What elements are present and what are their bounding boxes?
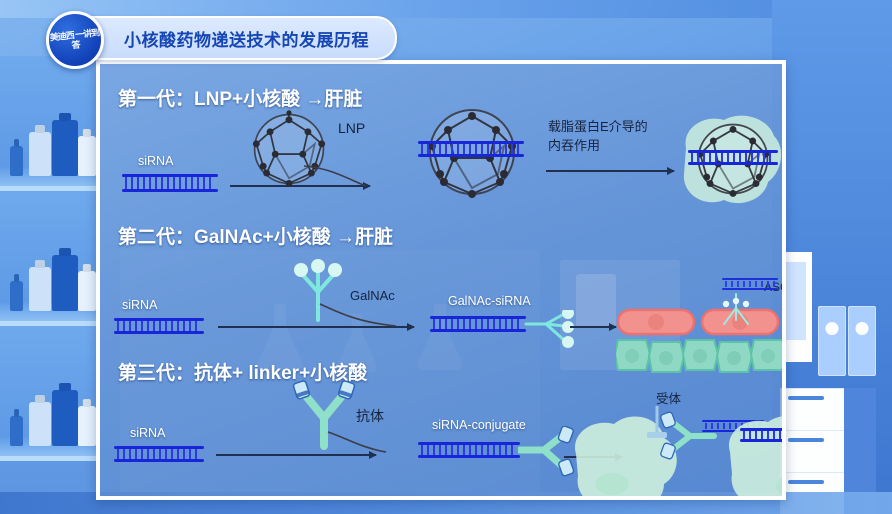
gen3-conjugate-label: siRNA-conjugate: [432, 418, 526, 432]
gen2-conjugate-sirna: [430, 316, 526, 332]
slide-canvas: 美迪西 一讲到答 小核酸药物递送技术的发展历程 第一代：LNP+小核酸 →肝脏 …: [0, 0, 892, 514]
page-title: 小核酸药物递送技术的发展历程: [124, 26, 369, 51]
gen3-antibody-connector: [324, 430, 390, 458]
gen1-lnp-connector: [300, 164, 370, 194]
bottle-small: [10, 416, 23, 446]
bottle-large: [52, 120, 78, 176]
bottle-tall: [78, 136, 96, 176]
gen2-galnac-label: GalNAc: [350, 288, 395, 303]
bottle-medium: [29, 132, 51, 176]
bottle-small: [10, 281, 23, 311]
bottle-small: [10, 146, 23, 176]
gen2-conjugate-galnac: [524, 310, 578, 352]
drawer-handle: [788, 480, 824, 484]
generation-row-3: 第三代：抗体+ linker+小核酸 siRNA: [100, 352, 782, 496]
content-board: 第一代：LNP+小核酸 →肝脏 siRNA: [96, 60, 786, 500]
gen3-sirna-label: siRNA: [130, 426, 165, 440]
gen1-arrow-2: [546, 170, 674, 172]
gen2-bound-sirna: [722, 278, 778, 290]
binder-folder: [818, 306, 846, 376]
slide-title-pill: 小核酸药物递送技术的发展历程: [72, 16, 397, 60]
left-shelf-unit: [0, 56, 100, 496]
company-logo-icon: 美迪西 一讲到答: [46, 11, 104, 69]
gen2-arrow-2: [570, 326, 616, 328]
drawer-handle: [788, 438, 824, 442]
gen2-asgpr-receptor-icon: [714, 290, 766, 332]
gen1-process-line2: 内吞作用: [548, 135, 600, 154]
bottle-large: [52, 390, 78, 446]
gen1-sirna-label: siRNA: [138, 154, 173, 168]
gen2-title: 第二代：GalNAc+小核酸 →肝脏: [118, 222, 393, 249]
gen3-internalised-sirna: [740, 428, 786, 442]
bottle-medium: [29, 402, 51, 446]
gen2-galnac-connector: [316, 302, 400, 332]
drawer-unit: [780, 388, 846, 432]
gen3-antibody-label: 抗体: [356, 406, 384, 426]
gen3-bound-antibody: [660, 410, 718, 462]
shelf-row-3: [0, 326, 100, 461]
drawer-handle: [788, 396, 824, 400]
binder-folder: [848, 306, 876, 376]
gen1-sirna-duplex: [122, 174, 218, 192]
bottle-tall: [78, 271, 96, 311]
bottle-large: [52, 255, 78, 311]
gen3-sirna-duplex: [114, 446, 204, 462]
logo-mark-text: 美迪西 一讲到答: [48, 27, 102, 52]
generation-row-2: 第二代：GalNAc+小核酸 →肝脏 siRNA: [100, 216, 782, 356]
gen2-conjugate-label: GalNAc-siRNA: [448, 294, 531, 308]
gen3-target-cell-right: [720, 408, 786, 500]
gen1-lnp-label: LNP: [338, 120, 365, 136]
gen1-internalised-sirna: [688, 150, 778, 165]
gen3-conjugate-sirna: [418, 442, 520, 458]
shelf-row-2: [0, 191, 100, 326]
drawer-unit: [780, 430, 846, 474]
bottle-tall: [78, 406, 96, 446]
cabinet-glass: [786, 262, 806, 340]
gen1-complex-sirna: [418, 141, 524, 157]
bottle-medium: [29, 267, 51, 311]
shelf-row-1: [0, 56, 100, 191]
gen2-sirna-duplex: [114, 318, 204, 334]
gen1-process-line1: 载脂蛋白E介导的: [548, 116, 648, 135]
gen2-sirna-label: siRNA: [122, 298, 157, 312]
generation-row-1: 第一代：LNP+小核酸 →肝脏 siRNA: [100, 78, 782, 218]
